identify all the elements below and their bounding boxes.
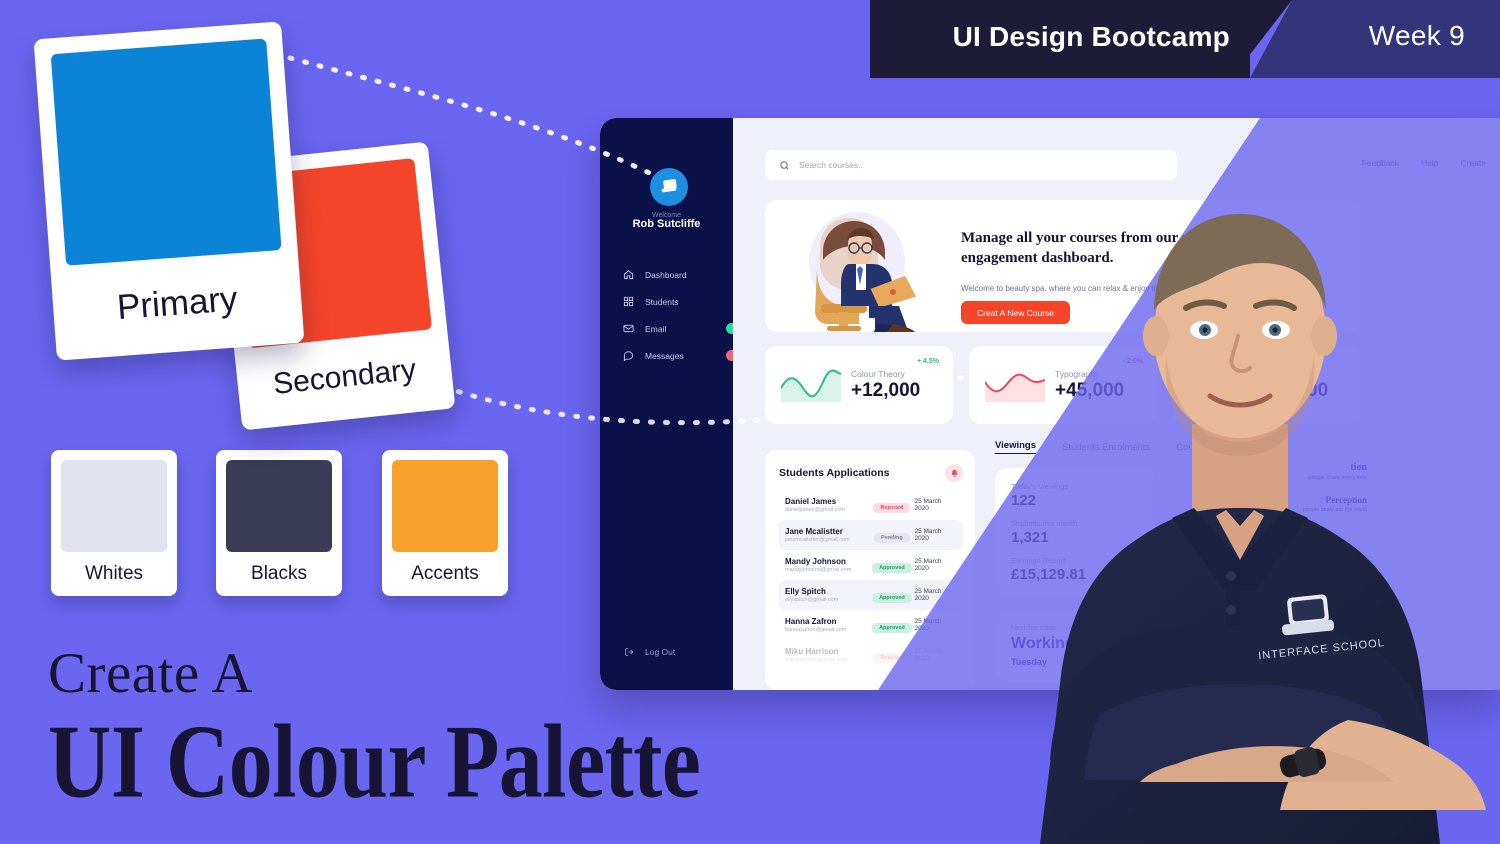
table-row[interactable]: Miku Harrison mikuharrison@gmail.com Rej… xyxy=(779,640,963,670)
sidebar-item-students[interactable]: Students xyxy=(622,293,734,310)
swatch-chip xyxy=(392,460,498,552)
swatch-label: Primary xyxy=(66,250,288,358)
sidebar-item-label: Dashboard xyxy=(645,270,687,280)
grid-icon xyxy=(622,295,635,308)
top-banner: UI Design Bootcamp Week 9 xyxy=(0,0,1500,78)
applicant-date: 25 March 2020 xyxy=(914,648,957,662)
applicant-name: Jane Mcalistter xyxy=(785,527,869,536)
applicant-name: Hanna Zafron xyxy=(785,617,869,626)
applicant-date: 25 March 2020 xyxy=(914,528,957,542)
week-label: Week 9 xyxy=(1369,20,1465,52)
bell-icon[interactable] xyxy=(945,464,963,482)
table-row[interactable]: Elly Spitch ellyspitch@gmail.com Approve… xyxy=(779,580,963,610)
mail-icon xyxy=(622,322,635,335)
applicant-email: mandyjohnson@gmail.com xyxy=(785,567,869,573)
applicant-email: ellyspitch@gmail.com xyxy=(785,597,869,603)
applicant-email: hannazafron@gmail.com xyxy=(785,627,869,633)
sidebar-item-messages[interactable]: Messages xyxy=(622,347,734,364)
swatch-label: Blacks xyxy=(226,552,332,596)
user-name: Rob Sutcliffe xyxy=(600,218,733,230)
applications-header: Students Applications xyxy=(779,464,963,482)
applicant-name: Daniel James xyxy=(785,497,869,506)
applicant-email: mikuharrison@gmail.com xyxy=(785,657,869,663)
chat-icon xyxy=(622,349,635,362)
applicant-date: 25 March 2020 xyxy=(914,618,957,632)
applicant-email: danieljames@gmail.com xyxy=(785,507,869,513)
applicant-date: 25 March 2020 xyxy=(914,588,957,602)
stat-delta: + 4.5% xyxy=(917,358,939,365)
applicant-date: 25 March 2020 xyxy=(914,558,957,572)
applications-title: Students Applications xyxy=(779,467,889,479)
sidebar-item-email[interactable]: Email xyxy=(622,320,734,337)
search-placeholder: Search courses.. xyxy=(799,160,863,170)
table-row[interactable]: Hanna Zafron hannazafron@gmail.com Appro… xyxy=(779,610,963,640)
swatch-chip xyxy=(226,460,332,552)
stacked-screens-icon xyxy=(658,176,680,198)
applicant-name: Miku Harrison xyxy=(785,647,869,656)
applicant-name: Mandy Johnson xyxy=(785,557,869,566)
sidebar-item-label: Email xyxy=(645,324,666,334)
stat-value: +12,000 xyxy=(851,380,920,402)
table-row[interactable]: Daniel James danieljames@gmail.com Rejec… xyxy=(779,490,963,520)
status-badge: Approved xyxy=(872,623,912,633)
sparkline-green xyxy=(781,368,841,402)
dashboard-sidebar: Welcome Rob Sutcliffe Dashboard xyxy=(600,118,733,690)
swatch-label: Accents xyxy=(392,552,498,596)
table-row[interactable]: Mandy Johnson mandyjohnson@gmail.com App… xyxy=(779,550,963,580)
sidebar-item-label: Messages xyxy=(645,351,684,361)
slide-canvas: Welcome Rob Sutcliffe Dashboard xyxy=(0,0,1500,844)
sidebar-nav: Dashboard Students xyxy=(622,266,734,374)
home-icon xyxy=(622,268,635,281)
applicant-date: 25 March 2020 xyxy=(914,498,957,512)
applicant-name: Elly Spitch xyxy=(785,587,869,596)
swatch-card-accents[interactable]: Accents xyxy=(382,450,508,596)
swatch-card-whites[interactable]: Whites xyxy=(51,450,177,596)
swatch-card-blacks[interactable]: Blacks xyxy=(216,450,342,596)
swatch-chip xyxy=(61,460,167,552)
stat-label: Colour Theory xyxy=(851,369,920,379)
search-icon xyxy=(779,160,790,171)
presenter-photo: INTERFACE SCHOOL xyxy=(980,124,1500,844)
sidebar-item-label: Students xyxy=(645,297,679,307)
app-logo-icon xyxy=(650,168,688,206)
table-row[interactable]: Jane Mcalistter janemcalistter@gmail.com… xyxy=(779,520,963,550)
title-line-2: UI Colour Palette xyxy=(48,706,700,816)
status-badge: Approved xyxy=(872,593,912,603)
title-line-1: Create A xyxy=(48,645,688,702)
bootcamp-title: UI Design Bootcamp xyxy=(953,21,1230,53)
stat-card: Colour Theory +12,000 + 4.5% xyxy=(765,346,953,424)
status-badge: Pending xyxy=(874,533,910,543)
students-applications-card: Students Applications Daniel James danie… xyxy=(765,450,975,690)
sidebar-item-dashboard[interactable]: Dashboard xyxy=(622,266,734,283)
swatch-label: Whites xyxy=(61,552,167,596)
hero-illustration xyxy=(765,200,955,332)
status-badge: Approved xyxy=(872,563,912,573)
status-badge: Rejected xyxy=(873,503,910,513)
applicant-email: janemcalistter@gmail.com xyxy=(785,537,869,543)
status-badge: Rejected xyxy=(873,653,910,663)
slide-title: Create A UI Colour Palette xyxy=(48,645,688,796)
